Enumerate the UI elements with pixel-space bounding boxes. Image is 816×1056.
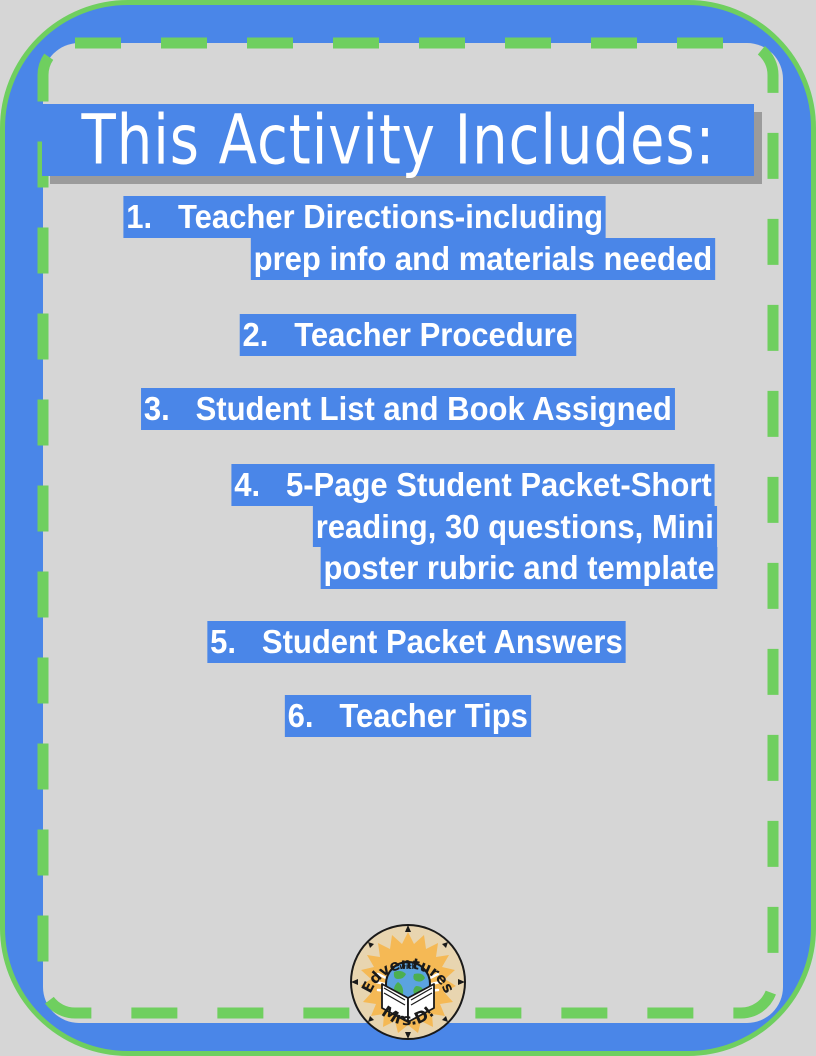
brand-logo: Edventures with Mrs.D! [348,922,468,1042]
list-item-line: reading, 30 questions, Mini [313,506,717,548]
activity-includes-poster: This Activity Includes: 1. Teacher Direc… [0,0,816,1056]
title-text: This Activity Includes: [81,106,715,174]
list-item: 2. Teacher Procedure [48,314,768,356]
list-item: 3. Student List and Book Assigned [48,388,768,430]
list-item: 6. Teacher Tips [48,695,768,737]
title-highlight-box: This Activity Includes: [42,104,754,176]
list-item-line: 4. 5-Page Student Packet-Short [231,464,714,506]
list-item-line: poster rubric and template [320,547,717,589]
list-item-line: 6. Teacher Tips [285,695,531,737]
list-item-line: 2. Teacher Procedure [240,314,576,356]
list-item: 5. Student Packet Answers [48,621,768,663]
list-item-line: 5. Student Packet Answers [207,621,625,663]
list-item: 4. 5-Page Student Packet-Short reading, … [48,464,768,590]
list-item-line: 3. Student List and Book Assigned [141,388,675,430]
list-item-line: prep info and materials needed [251,238,715,280]
poster-title: This Activity Includes: [42,104,754,176]
includes-list: 1. Teacher Directions-including prep inf… [48,196,768,737]
list-item: 1. Teacher Directions-including prep inf… [48,196,768,280]
logo-brand-mid: with [399,963,416,971]
list-item-line: 1. Teacher Directions-including [123,196,606,238]
